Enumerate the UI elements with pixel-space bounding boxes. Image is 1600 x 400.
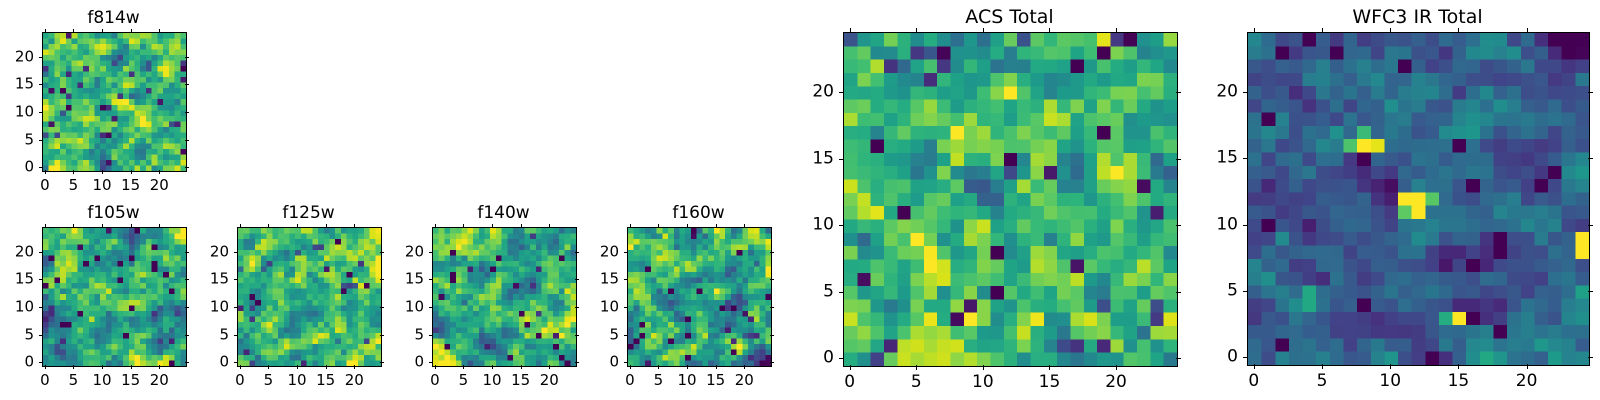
xtick-label-acs-total-10: 10 [972,372,994,392]
xtick-mark-acs-total-5 [916,365,917,370]
ytick-label-acs-total-10: 10 [763,216,834,235]
ytick-label-wfc3-ir-total-15: 15 [1167,149,1238,168]
ytick-label-wfc3-ir-total-20: 20 [1167,82,1238,101]
ytick-mark-acs-total-5 [839,292,844,293]
xtick-mark-acs-total-10 [983,365,984,370]
xtick-mark-acs-total-15 [1049,365,1050,370]
xtick-mark-top-f125w-15 [326,224,327,228]
figure-canvas: f814w0510152005101520f105w05101520051015… [0,0,1600,400]
ytick-mark-right-wfc3-ir-total-15 [1588,158,1593,159]
xtick-mark-f160w-20 [744,365,745,369]
xtick-mark-top-f125w-5 [268,224,269,228]
xtick-mark-top-f105w-0 [45,224,46,228]
ytick-mark-right-wfc3-ir-total-20 [1588,92,1593,93]
ytick-mark-f160w-15 [624,279,628,280]
ytick-mark-right-wfc3-ir-total-5 [1588,291,1593,292]
xtick-label-f160w-15: 15 [706,371,725,389]
xtick-label-wfc3-ir-total-10: 10 [1379,371,1401,391]
ytick-mark-acs-total-10 [839,225,844,226]
xtick-label-wfc3-ir-total-0: 0 [1248,371,1259,391]
ytick-label-f160w-15: 15 [547,271,619,288]
ytick-label-f160w-10: 10 [547,299,619,316]
xtick-mark-f160w-15 [716,365,717,369]
xtick-mark-top-wfc3-ir-total-10 [1390,28,1391,33]
xtick-mark-top-wfc3-ir-total-15 [1458,28,1459,33]
xtick-label-f105w-10: 10 [93,371,112,389]
ytick-mark-f105w-10 [39,307,43,308]
ytick-label-f140w-20: 20 [352,243,424,260]
xtick-mark-top-f140w-5 [463,224,464,228]
xtick-mark-top-f160w-5 [658,224,659,228]
xtick-label-f125w-5: 5 [264,371,274,389]
xtick-mark-f125w-15 [326,365,327,369]
ytick-mark-f105w-20 [39,252,43,253]
xtick-label-f140w-15: 15 [511,371,530,389]
ytick-label-f140w-15: 15 [352,271,424,288]
ytick-label-f105w-20: 20 [0,243,34,260]
xtick-mark-f125w-5 [268,365,269,369]
xtick-mark-f125w-10 [297,365,298,369]
xtick-mark-f160w-5 [658,365,659,369]
ytick-label-f160w-20: 20 [547,243,619,260]
ytick-label-f140w-10: 10 [352,299,424,316]
xtick-mark-f140w-5 [463,365,464,369]
xtick-mark-acs-total-0 [850,365,851,370]
xtick-label-f105w-0: 0 [40,371,50,389]
ytick-mark-f105w-0 [39,362,43,363]
xtick-mark-wfc3-ir-total-5 [1322,364,1323,369]
ytick-label-f160w-0: 0 [547,354,619,371]
xtick-label-wfc3-ir-total-20: 20 [1516,371,1538,391]
ytick-mark-f160w-10 [624,307,628,308]
ytick-label-wfc3-ir-total-0: 0 [1167,348,1238,367]
ytick-mark-f140w-15 [429,279,433,280]
xtick-mark-top-f105w-5 [73,224,74,228]
xtick-mark-wfc3-ir-total-10 [1390,364,1391,369]
ytick-label-f105w-10: 10 [0,299,34,316]
xtick-mark-acs-total-20 [1116,365,1117,370]
ytick-label-acs-total-5: 5 [763,282,834,301]
xtick-label-wfc3-ir-total-5: 5 [1317,371,1328,391]
ytick-label-acs-total-15: 15 [763,149,834,168]
xtick-label-f140w-10: 10 [483,371,502,389]
xtick-mark-top-f160w-0 [630,224,631,228]
xtick-mark-top-f140w-0 [435,224,436,228]
xtick-mark-top-f160w-10 [687,224,688,228]
xtick-label-f160w-20: 20 [735,371,754,389]
xtick-label-f125w-0: 0 [235,371,245,389]
xtick-mark-f160w-0 [630,365,631,369]
xtick-mark-top-f105w-10 [102,224,103,228]
ytick-mark-f160w-5 [624,335,628,336]
xtick-mark-top-f140w-15 [521,224,522,228]
ytick-mark-f140w-0 [429,362,433,363]
xtick-mark-f140w-15 [521,365,522,369]
ytick-mark-right-wfc3-ir-total-10 [1588,225,1593,226]
xtick-mark-top-f140w-10 [492,224,493,228]
xtick-label-f105w-5: 5 [69,371,79,389]
xtick-label-f125w-15: 15 [316,371,335,389]
ytick-label-acs-total-0: 0 [763,349,834,368]
heatmap-axes-f160w[interactable] [627,227,772,367]
ytick-mark-f125w-15 [234,279,238,280]
ytick-label-f140w-5: 5 [352,326,424,343]
xtick-label-acs-total-20: 20 [1105,372,1127,392]
ytick-mark-f160w-20 [624,252,628,253]
ytick-mark-wfc3-ir-total-10 [1243,225,1248,226]
ytick-label-f105w-15: 15 [0,271,34,288]
xtick-mark-f125w-0 [240,365,241,369]
xtick-mark-wfc3-ir-total-20 [1527,364,1528,369]
xtick-mark-wfc3-ir-total-0 [1254,364,1255,369]
ytick-label-f125w-20: 20 [157,243,229,260]
xtick-mark-top-wfc3-ir-total-20 [1527,28,1528,33]
xtick-mark-top-acs-total-10 [983,28,984,33]
ytick-mark-acs-total-0 [839,358,844,359]
ytick-label-f105w-5: 5 [0,326,34,343]
heatmap-image-f160w [628,228,771,366]
xtick-mark-f105w-10 [102,365,103,369]
xtick-label-acs-total-0: 0 [844,372,855,392]
xtick-mark-top-f105w-15 [131,224,132,228]
xtick-mark-top-f160w-20 [744,224,745,228]
ytick-mark-acs-total-20 [839,92,844,93]
xtick-label-f140w-5: 5 [459,371,469,389]
xtick-mark-wfc3-ir-total-15 [1458,364,1459,369]
xtick-mark-top-acs-total-5 [916,28,917,33]
xtick-label-f105w-15: 15 [121,371,140,389]
ytick-mark-f125w-0 [234,362,238,363]
ytick-mark-wfc3-ir-total-5 [1243,291,1248,292]
ytick-label-f105w-0: 0 [0,354,34,371]
ytick-mark-f140w-5 [429,335,433,336]
xtick-mark-f105w-0 [45,365,46,369]
heatmap-image-wfc3-ir-total [1248,33,1589,365]
ytick-mark-f140w-10 [429,307,433,308]
xtick-mark-top-f160w-15 [716,224,717,228]
ytick-label-f125w-15: 15 [157,271,229,288]
ytick-label-f125w-5: 5 [157,326,229,343]
xtick-mark-top-f125w-0 [240,224,241,228]
xtick-mark-f140w-0 [435,365,436,369]
ytick-mark-f105w-5 [39,335,43,336]
xtick-mark-f160w-10 [687,365,688,369]
xtick-mark-top-wfc3-ir-total-0 [1254,28,1255,33]
panel-wfc3-ir-total: WFC3 IR Total0510152005101520 [1167,0,1600,400]
heatmap-image-acs-total [844,33,1177,366]
xtick-label-f125w-10: 10 [288,371,307,389]
panel-title-wfc3-ir-total: WFC3 IR Total [1167,6,1600,28]
ytick-mark-wfc3-ir-total-0 [1243,357,1248,358]
xtick-mark-top-acs-total-15 [1049,28,1050,33]
ytick-mark-f125w-10 [234,307,238,308]
heatmap-axes-wfc3-ir-total[interactable] [1247,32,1590,366]
ytick-mark-f125w-5 [234,335,238,336]
xtick-label-f160w-10: 10 [678,371,697,389]
xtick-label-f160w-0: 0 [625,371,635,389]
xtick-label-acs-total-15: 15 [1039,372,1061,392]
xtick-mark-f140w-10 [492,365,493,369]
ytick-mark-wfc3-ir-total-20 [1243,92,1248,93]
xtick-mark-f105w-15 [131,365,132,369]
ytick-mark-right-wfc3-ir-total-0 [1588,357,1593,358]
ytick-mark-f105w-15 [39,279,43,280]
ytick-mark-f125w-20 [234,252,238,253]
xtick-mark-top-acs-total-0 [850,28,851,33]
ytick-label-acs-total-20: 20 [763,82,834,101]
xtick-mark-f105w-5 [73,365,74,369]
ytick-label-f125w-10: 10 [157,299,229,316]
ytick-mark-f160w-0 [624,362,628,363]
ytick-label-wfc3-ir-total-10: 10 [1167,215,1238,234]
xtick-mark-top-f125w-10 [297,224,298,228]
ytick-label-f125w-0: 0 [157,354,229,371]
xtick-mark-top-acs-total-20 [1116,28,1117,33]
ytick-mark-acs-total-15 [839,159,844,160]
xtick-label-wfc3-ir-total-15: 15 [1448,371,1470,391]
xtick-label-f160w-5: 5 [654,371,664,389]
xtick-mark-top-wfc3-ir-total-5 [1322,28,1323,33]
ytick-mark-f140w-20 [429,252,433,253]
ytick-label-wfc3-ir-total-5: 5 [1167,281,1238,300]
ytick-label-f140w-0: 0 [352,354,424,371]
ytick-label-f160w-5: 5 [547,326,619,343]
ytick-mark-wfc3-ir-total-15 [1243,158,1248,159]
xtick-label-f140w-0: 0 [430,371,440,389]
xtick-label-acs-total-5: 5 [911,372,922,392]
heatmap-axes-acs-total[interactable] [843,32,1178,367]
